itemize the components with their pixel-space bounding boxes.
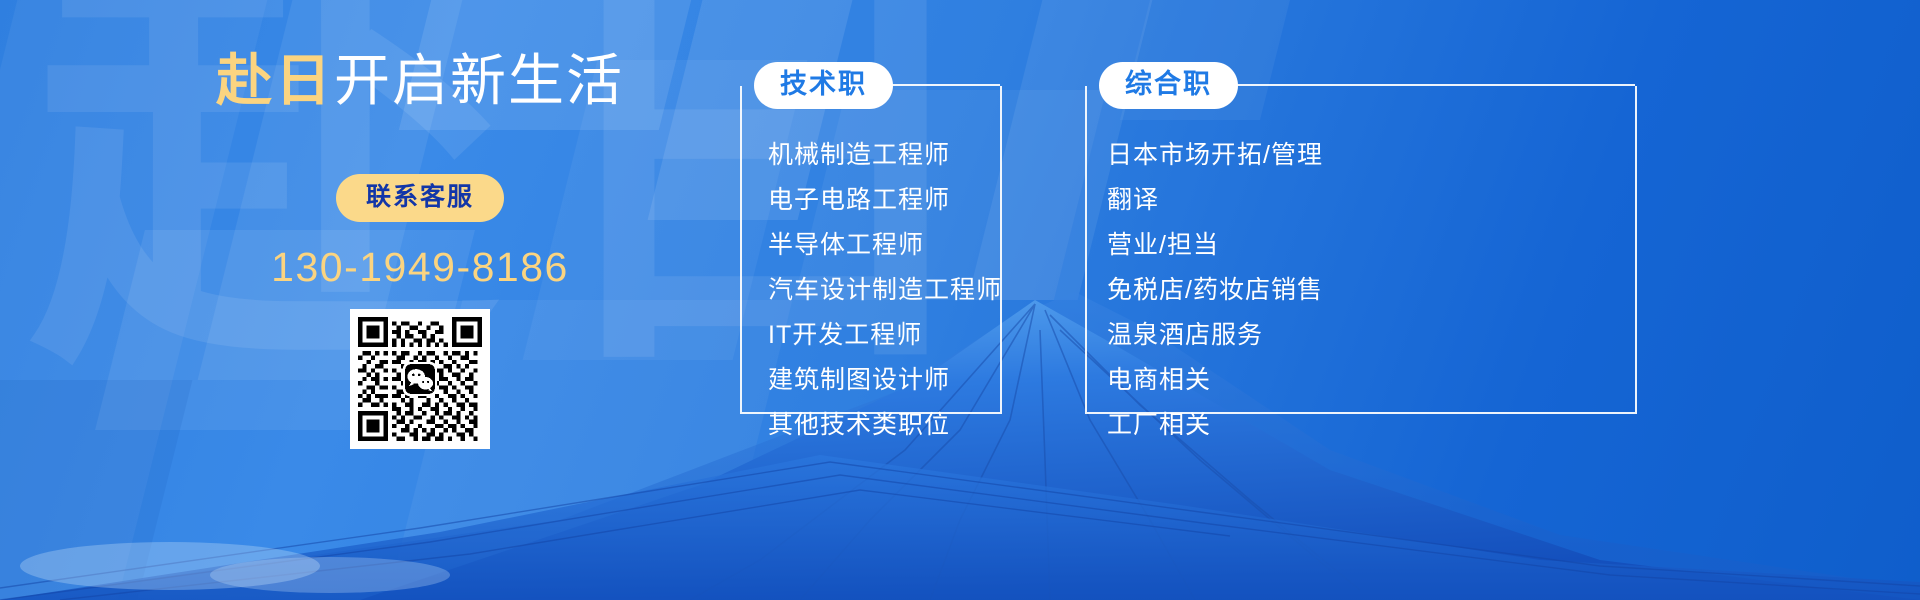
list-item[interactable]: IT开发工程师: [740, 314, 1002, 359]
panel-technical-jobs: 技术职 机械制造工程师 电子电路工程师 半导体工程师 汽车设计制造工程师 IT开…: [740, 62, 1002, 414]
qr-code-icon: [358, 317, 482, 441]
list-item[interactable]: 电子电路工程师: [740, 179, 1002, 224]
list-item[interactable]: 营业/担当: [1085, 224, 1637, 269]
contact-support-button[interactable]: 联系客服: [336, 174, 504, 223]
list-item[interactable]: 机械制造工程师: [740, 134, 1002, 179]
panel-badge-technical[interactable]: 技术职: [754, 62, 893, 109]
list-item[interactable]: 免税店/药妆店销售: [1085, 269, 1637, 314]
panel-badge-general[interactable]: 综合职: [1099, 62, 1238, 109]
headline-accent: 赴日: [216, 49, 334, 112]
wechat-qr-code[interactable]: [350, 309, 490, 449]
list-item[interactable]: 建筑制图设计师: [740, 359, 1002, 404]
list-item[interactable]: 汽车设计制造工程师: [740, 269, 1002, 314]
job-list-general: 日本市场开拓/管理 翻译 营业/担当 免税店/药妆店销售 温泉酒店服务 电商相关…: [1085, 134, 1637, 449]
list-item[interactable]: 电商相关: [1085, 359, 1637, 404]
headline-rest: 开启新生活: [334, 49, 624, 112]
panel-general-jobs: 综合职 日本市场开拓/管理 翻译 营业/担当 免税店/药妆店销售 温泉酒店服务 …: [1085, 62, 1637, 414]
list-item[interactable]: 工厂相关: [1085, 404, 1637, 449]
job-list-technical: 机械制造工程师 电子电路工程师 半导体工程师 汽车设计制造工程师 IT开发工程师…: [740, 134, 1002, 449]
list-item[interactable]: 其他技术类职位: [740, 404, 1002, 449]
phone-number[interactable]: 130-1949-8186: [120, 244, 720, 291]
list-item[interactable]: 翻译: [1085, 179, 1637, 224]
list-item[interactable]: 温泉酒店服务: [1085, 314, 1637, 359]
promo-banner: 赴日: [0, 0, 1920, 600]
left-content-column: 赴日开启新生活 联系客服 130-1949-8186: [120, 24, 720, 576]
list-item[interactable]: 日本市场开拓/管理: [1085, 134, 1637, 179]
list-item[interactable]: 半导体工程师: [740, 224, 1002, 269]
page-title: 赴日开启新生活: [120, 50, 720, 112]
